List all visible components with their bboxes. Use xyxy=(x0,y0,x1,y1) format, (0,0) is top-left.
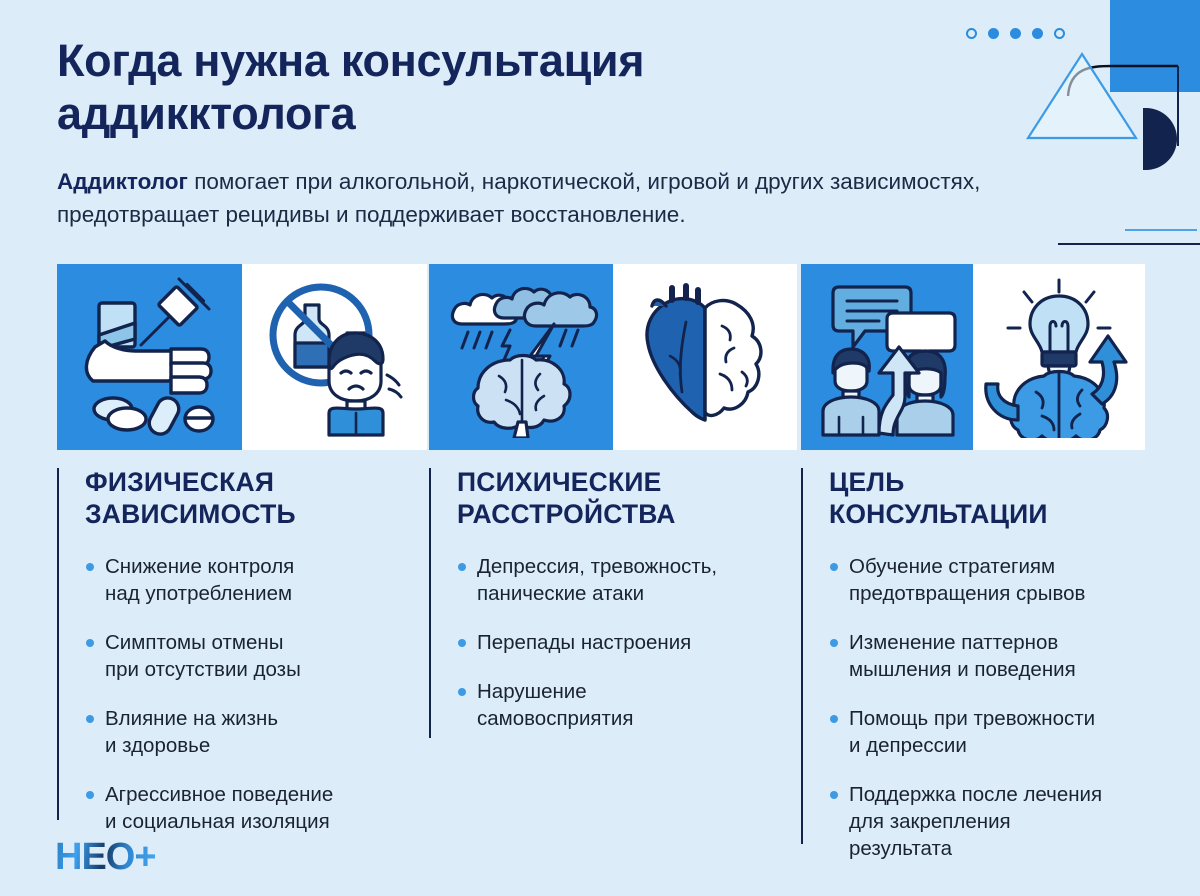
arm-syringe-pills-icon xyxy=(57,264,242,450)
list-item: Обучение стратегиям предотвращения срыво… xyxy=(829,553,1171,607)
page-title-line-2: аддикктолога xyxy=(57,88,355,139)
column-3-list: Обучение стратегиям предотвращения срыво… xyxy=(829,553,1171,862)
list-item: Перепады настроения xyxy=(457,629,789,656)
brain-storm-cloud-icon xyxy=(429,264,613,450)
heart-brain-halves-icon xyxy=(613,264,797,450)
column-1-list: Снижение контроля над употреблением Симп… xyxy=(85,553,417,835)
image-strip-mental xyxy=(429,264,797,450)
list-item: Поддержка после лечения для закрепления … xyxy=(829,781,1171,862)
list-item: Снижение контроля над употреблением xyxy=(85,553,417,607)
triangle-outline-decoration xyxy=(1022,46,1142,146)
dot-row-decoration xyxy=(966,28,1065,39)
list-item: Агрессивное поведение и социальная изоля… xyxy=(85,781,417,835)
column-mental-disorders: ПСИХИЧЕСКИЕ РАССТРОЙСТВА Депрессия, трев… xyxy=(429,466,789,754)
column-2-list: Депрессия, тревожность, панические атаки… xyxy=(457,553,789,732)
image-strip-physical xyxy=(57,264,427,450)
column-1-heading: ФИЗИЧЕСКАЯ ЗАВИСИМОСТЬ xyxy=(85,466,417,531)
list-item: Влияние на жизнь и здоровье xyxy=(85,705,417,759)
page-title-line-1: Когда нужна консультация xyxy=(57,35,644,86)
list-item: Симптомы отмены при отсутствии дозы xyxy=(85,629,417,683)
list-item: Нарушение самовосприятия xyxy=(457,678,789,732)
no-alcohol-sad-person-icon xyxy=(242,264,427,450)
subtitle-lead-term: Аддиктолог xyxy=(57,169,188,194)
image-strip-goal xyxy=(801,264,1145,450)
list-item: Помощь при тревожности и депрессии xyxy=(829,705,1171,759)
dot-3-filled-icon xyxy=(1010,28,1021,39)
column-physical-dependence: ФИЗИЧЕСКАЯ ЗАВИСИМОСТЬ Снижение контроля… xyxy=(57,466,417,857)
navy-rule xyxy=(1058,243,1200,245)
dot-1-outline-icon xyxy=(966,28,977,39)
list-item: Депрессия, тревожность, панические атаки xyxy=(457,553,789,607)
brand-logo: НЕО+ xyxy=(55,838,156,876)
column-consultation-goal: ЦЕЛЬ КОНСУЛЬТАЦИИ Обучение стратегиям пр… xyxy=(801,466,1171,884)
light-blue-rule xyxy=(1125,229,1197,231)
page-title: Когда нужна консультация аддикктолога xyxy=(57,34,937,140)
list-item: Изменение паттернов мышления и поведения xyxy=(829,629,1171,683)
column-2-heading: ПСИХИЧЕСКИЕ РАССТРОЙСТВА xyxy=(457,466,789,531)
brain-lightbulb-arrows-icon xyxy=(973,264,1145,450)
dot-2-filled-icon xyxy=(988,28,999,39)
dot-4-filled-icon xyxy=(1032,28,1043,39)
subtitle-body: помогает при алкогольной, наркотической,… xyxy=(57,169,980,227)
page-subtitle: Аддиктолог помогает при алкогольной, нар… xyxy=(57,166,1097,231)
column-3-heading: ЦЕЛЬ КОНСУЛЬТАЦИИ xyxy=(829,466,1171,531)
two-people-speech-bubbles-icon xyxy=(801,264,973,450)
